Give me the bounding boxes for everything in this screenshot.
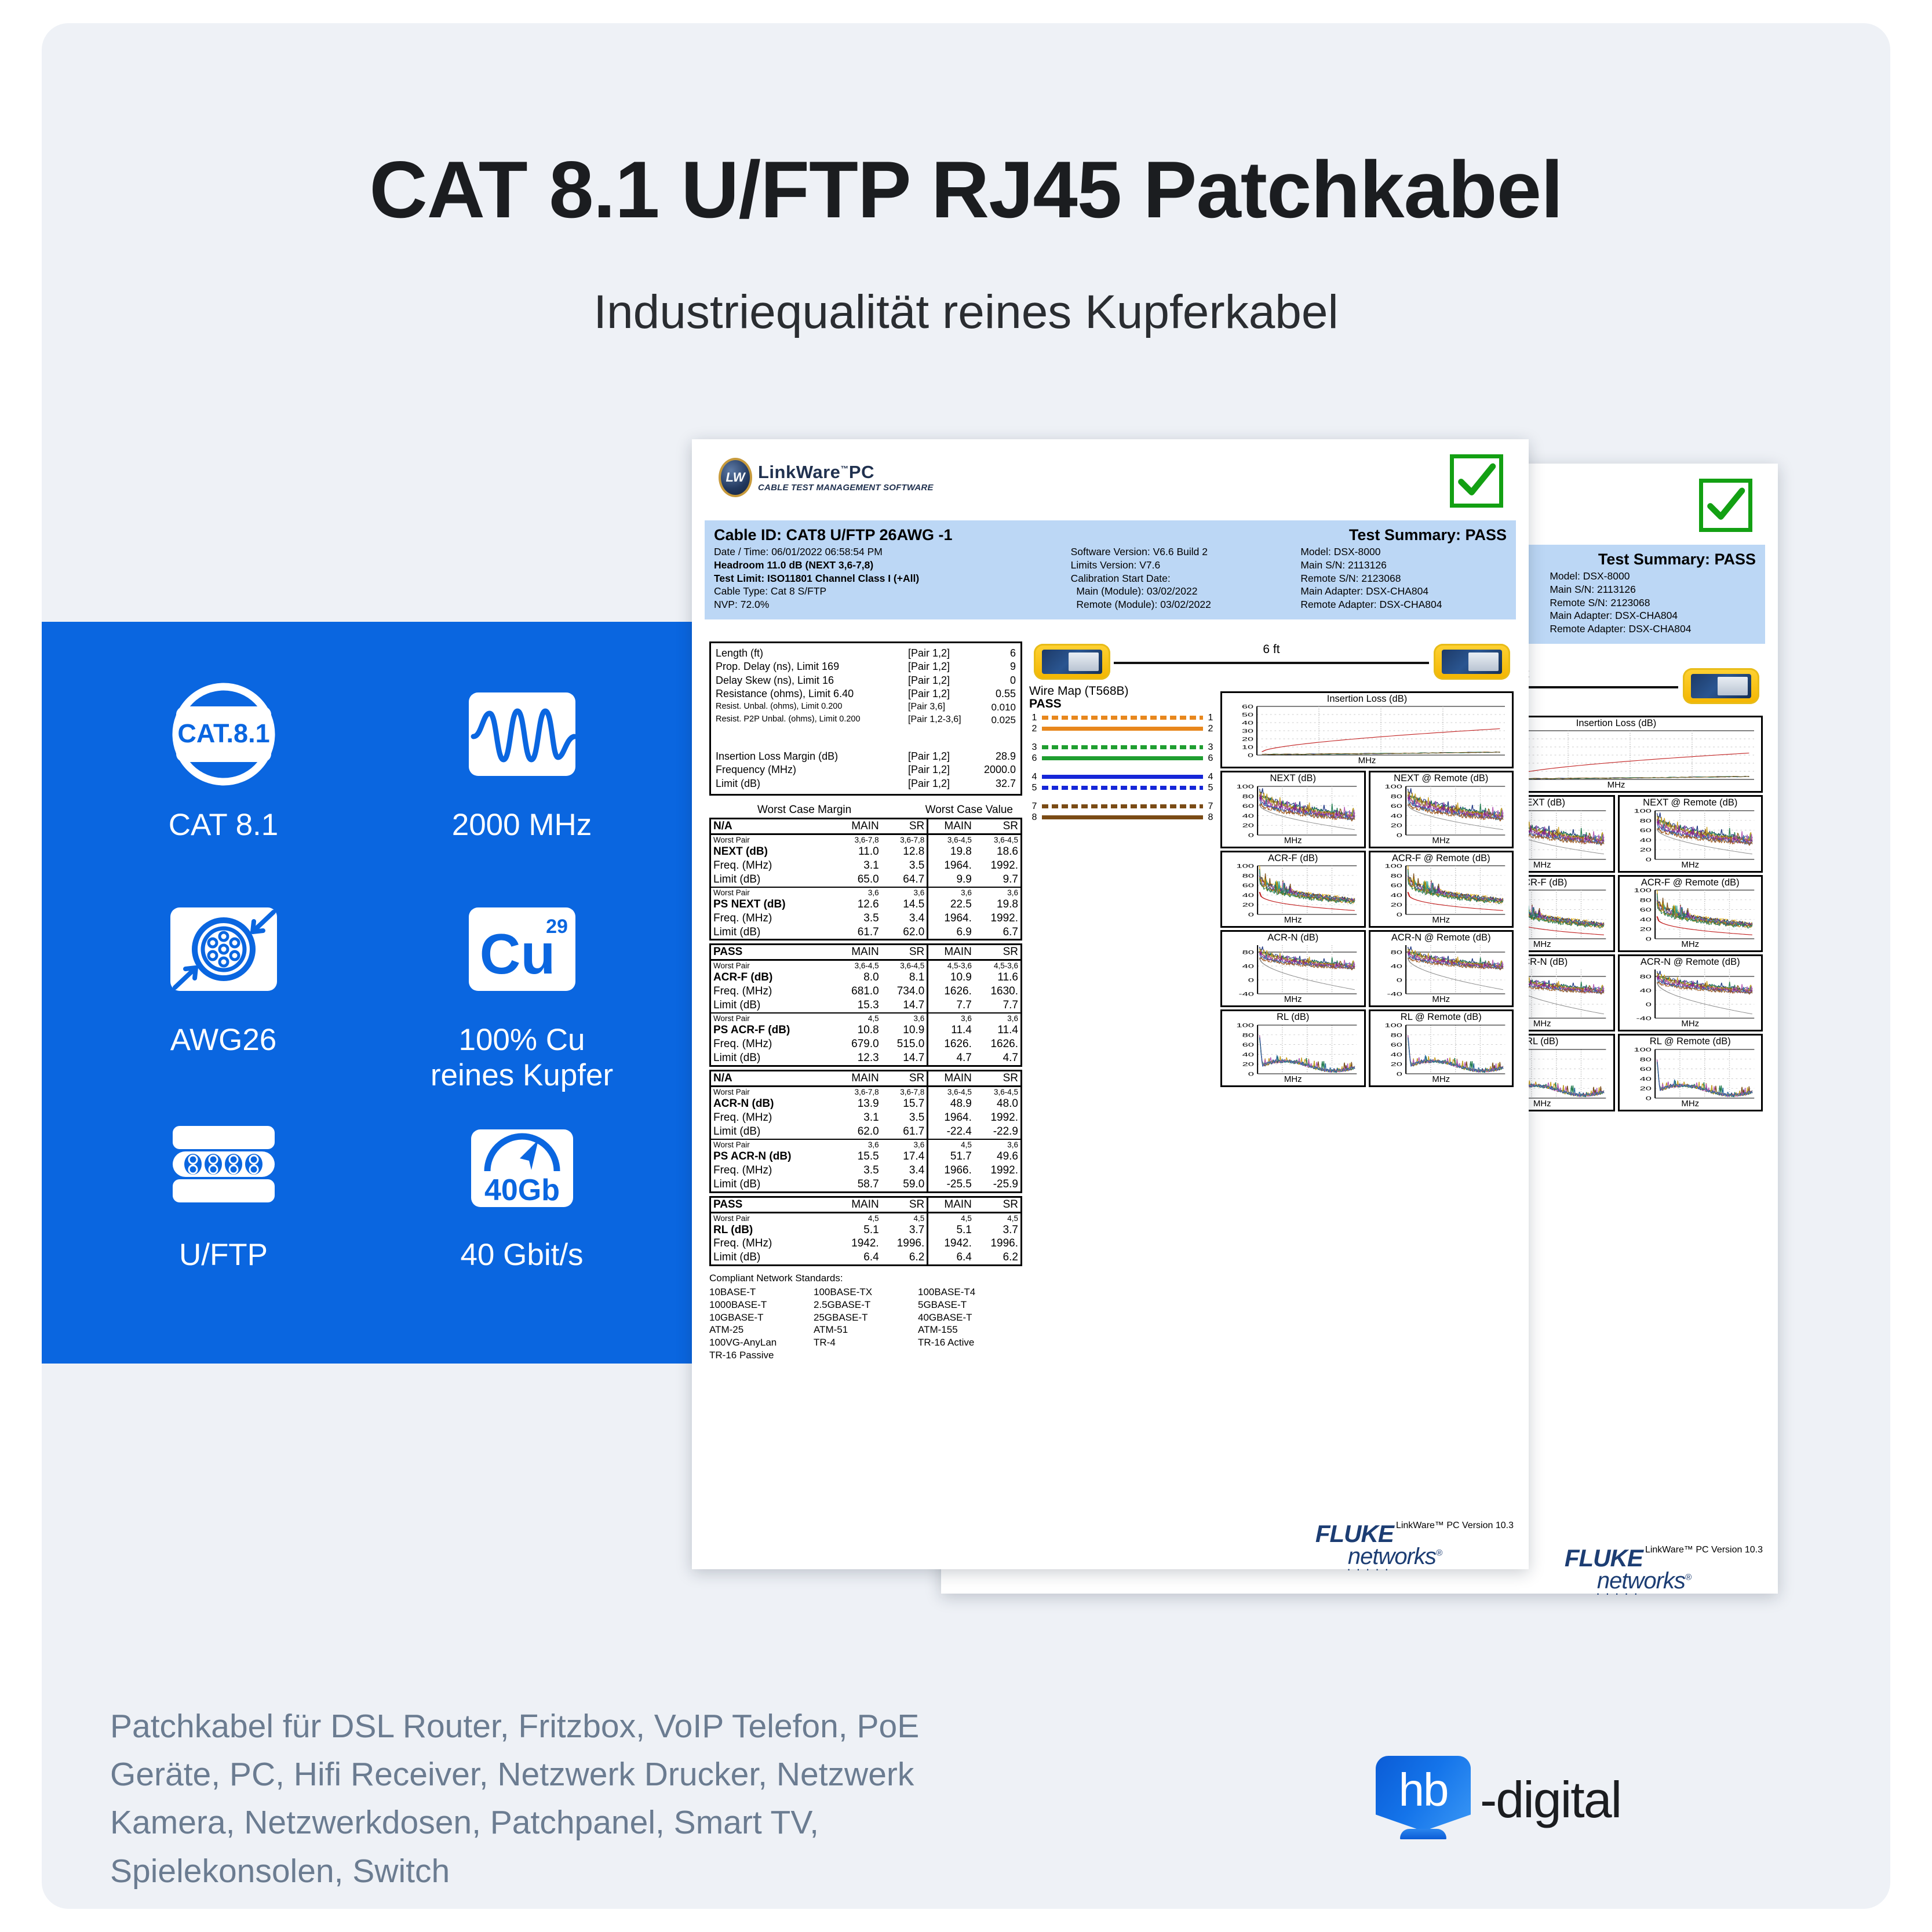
cell-main-margin: 15.5 bbox=[835, 1150, 881, 1164]
measurement-value: 0 bbox=[971, 674, 1016, 687]
data-row: NEXT (dB) 11.0 12.8 19.8 18.6 bbox=[711, 845, 1020, 859]
wiremap-right-pin: 1 bbox=[1205, 713, 1216, 723]
feature-label: 40 Gbit/s bbox=[460, 1237, 583, 1273]
chart-title: ACR-N @ Remote (dB) bbox=[1620, 956, 1762, 967]
standard-item: 10GBASE-T bbox=[709, 1311, 814, 1324]
svg-text:0: 0 bbox=[1248, 912, 1254, 917]
data-row: Worst Pair 3,6 3,6 3,6 3,6 bbox=[711, 888, 1020, 898]
wiremap-right-pin: 3 bbox=[1205, 742, 1216, 753]
svg-text:0: 0 bbox=[1248, 1071, 1254, 1076]
cell-sr-value: 11.4 bbox=[974, 1023, 1020, 1037]
svg-text:0: 0 bbox=[1645, 857, 1651, 862]
wiremap-left-pin: 3 bbox=[1029, 742, 1040, 753]
svg-text:0: 0 bbox=[1396, 978, 1402, 983]
cell-sr-value: 1626. bbox=[974, 1037, 1020, 1051]
data-row: ACR-F (dB) 8.0 8.1 10.9 11.6 bbox=[711, 971, 1020, 985]
svg-text:0: 0 bbox=[1396, 1071, 1402, 1076]
svg-text:CAT.8.1: CAT.8.1 bbox=[177, 719, 269, 748]
green-checkmark-icon bbox=[1450, 454, 1503, 508]
cell-sr-margin: 64.7 bbox=[881, 873, 928, 887]
info-line: Date / Time: 06/01/2022 06:58:54 PM bbox=[714, 545, 1071, 559]
row-label: Limit (dB) bbox=[711, 925, 835, 939]
cell-sr-margin: 8.1 bbox=[881, 971, 928, 985]
cell-sr-value: 9.7 bbox=[974, 873, 1020, 887]
cell-main-margin: 1942. bbox=[835, 1237, 881, 1251]
row-label: Worst Pair bbox=[711, 961, 835, 971]
svg-text:80: 80 bbox=[1390, 1032, 1402, 1038]
uftp-shield-icon bbox=[166, 1118, 282, 1211]
standard-item: TR-16 Active bbox=[918, 1336, 1022, 1349]
data-row: Freq. (MHz) 3.1 3.5 1964. 1992. bbox=[711, 859, 1020, 873]
svg-text:100: 100 bbox=[1634, 1047, 1652, 1053]
svg-text:40: 40 bbox=[1242, 892, 1254, 898]
block-status: PASS bbox=[711, 945, 835, 960]
standard-item: 100BASE-TX bbox=[814, 1286, 918, 1299]
cell-sr-margin: 12.8 bbox=[881, 845, 928, 859]
chart-title: ACR-F @ Remote (dB) bbox=[1620, 877, 1762, 888]
svg-text:80: 80 bbox=[1639, 898, 1651, 903]
chart-xaxis-label: MHz bbox=[1222, 836, 1364, 847]
cell-main-value: 4,5-3,6 bbox=[928, 961, 974, 971]
wiremap-right-pin: 4 bbox=[1205, 772, 1216, 782]
cell-main-value: 5.1 bbox=[928, 1223, 974, 1237]
row-label: RL (dB) bbox=[711, 1223, 835, 1237]
svg-text:-40: -40 bbox=[1387, 991, 1402, 996]
data-row: RL (dB) 5.1 3.7 5.1 3.7 bbox=[711, 1223, 1020, 1237]
data-row: Worst Pair 3,6-7,8 3,6-7,8 3,6-4,5 3,6-4… bbox=[711, 835, 1020, 845]
cell-main-margin: 12.6 bbox=[835, 898, 881, 912]
svg-text:60: 60 bbox=[1390, 803, 1402, 809]
svg-text:-40: -40 bbox=[1636, 1016, 1652, 1020]
svg-text:100: 100 bbox=[1634, 808, 1652, 814]
col-header: SR bbox=[974, 1071, 1020, 1086]
svg-text:2000: 2000 bbox=[1743, 782, 1761, 782]
chart-title: RL @ Remote (dB) bbox=[1370, 1011, 1512, 1022]
svg-text:80: 80 bbox=[1390, 873, 1402, 879]
fluke-networks-logo: FLUKE networks® ····· bbox=[1565, 1547, 1691, 1597]
cell-main-margin: 3,6-4,5 bbox=[835, 961, 881, 971]
cell-main-margin: 5.1 bbox=[835, 1223, 881, 1237]
cell-main-margin: 8.0 bbox=[835, 971, 881, 985]
data-row: Freq. (MHz) 679.0 515.0 1626. 1626. bbox=[711, 1037, 1020, 1051]
cell-main-value: 1626. bbox=[928, 985, 974, 998]
chart-title: ACR-F @ Remote (dB) bbox=[1370, 852, 1512, 863]
data-row: Freq. (MHz) 1942. 1996. 1942. 1996. bbox=[711, 1237, 1020, 1251]
measurement-label: Limit (dB) bbox=[716, 777, 908, 790]
cell-sr-value: 3,6 bbox=[974, 888, 1020, 898]
col-header: SR bbox=[881, 1198, 928, 1212]
row-label: Freq. (MHz) bbox=[711, 1164, 835, 1178]
chart-plot: 80400-400500100015002000 bbox=[1620, 967, 1762, 1020]
wiremap-pair-row: 4 4 bbox=[1029, 771, 1216, 782]
chart-xaxis-label: MHz bbox=[1370, 1075, 1512, 1085]
cell-main-margin: 3.1 bbox=[835, 1111, 881, 1125]
row-label: Limit (dB) bbox=[711, 998, 835, 1013]
svg-text:Cu: Cu bbox=[479, 922, 555, 986]
svg-text:0: 0 bbox=[1254, 757, 1260, 758]
svg-text:0: 0 bbox=[1645, 936, 1651, 941]
feature-item-copper-element: Cu 29 100% Cureines Kupfer bbox=[373, 878, 671, 1093]
row-label: Worst Pair bbox=[711, 1014, 835, 1023]
svg-text:-40: -40 bbox=[1239, 991, 1255, 996]
row-label: ACR-N (dB) bbox=[711, 1097, 835, 1111]
cell-sr-value: 3,6 bbox=[974, 1014, 1020, 1023]
data-row: Freq. (MHz) 681.0 734.0 1626. 1630. bbox=[711, 985, 1020, 998]
cell-sr-value: 7.7 bbox=[974, 998, 1020, 1013]
standard-item: 10BASE-T bbox=[709, 1286, 814, 1299]
svg-text:100: 100 bbox=[1384, 1023, 1402, 1029]
feature-label: AWG26 bbox=[170, 1022, 277, 1058]
wiremap-wire bbox=[1042, 756, 1203, 760]
feature-item-uftp-shield: U/FTP bbox=[74, 1093, 373, 1308]
info-line: Cable Type: Cat 8 S/FTP bbox=[714, 585, 1071, 598]
cell-main-value: 3,6-4,5 bbox=[928, 835, 974, 845]
chart-xaxis-label: MHz bbox=[1620, 1099, 1762, 1110]
col-header: MAIN bbox=[835, 945, 881, 960]
cell-sr-value: 4,5 bbox=[974, 1213, 1020, 1223]
svg-text:0: 0 bbox=[1248, 978, 1254, 983]
svg-text:40: 40 bbox=[1639, 988, 1651, 994]
uftp-shield-icon bbox=[166, 1106, 282, 1222]
col-header: SR bbox=[881, 945, 928, 960]
cell-main-value: 4,5 bbox=[928, 1140, 974, 1150]
col-header: SR bbox=[974, 945, 1020, 960]
cell-sr-value: 19.8 bbox=[974, 898, 1020, 912]
svg-text:20: 20 bbox=[1242, 1062, 1254, 1067]
svg-text:40: 40 bbox=[1242, 1052, 1254, 1058]
chart-rl-remote: RL @ Remote (dB) 10080604020005001000150… bbox=[1369, 1009, 1514, 1087]
svg-text:60: 60 bbox=[1242, 704, 1253, 710]
block-header-row: PASS MAIN SR MAIN SR bbox=[711, 945, 1020, 960]
cell-sr-margin: 3.7 bbox=[881, 1223, 928, 1237]
data-row: PS ACR-F (dB) 10.8 10.9 11.4 11.4 bbox=[711, 1023, 1020, 1037]
svg-text:40: 40 bbox=[1390, 964, 1402, 969]
cell-main-margin: 3.5 bbox=[835, 1164, 881, 1178]
cell-main-value: 4.7 bbox=[928, 1051, 974, 1065]
brand-name: -digital bbox=[1480, 1770, 1621, 1829]
info-line: NVP: 72.0% bbox=[714, 598, 1071, 611]
measurement-value: 6 bbox=[971, 647, 1016, 660]
row-label: PS ACR-F (dB) bbox=[711, 1023, 835, 1037]
data-row: ACR-N (dB) 13.9 15.7 48.9 48.0 bbox=[711, 1097, 1020, 1111]
cable-cross-section-icon bbox=[166, 891, 282, 1007]
cell-sr-margin: 3,6 bbox=[881, 1140, 928, 1150]
col-header: SR bbox=[881, 819, 928, 834]
wiremap-pair-row: 7 7 bbox=[1029, 801, 1216, 812]
data-row: Limit (dB) 6.4 6.2 6.4 6.2 bbox=[711, 1251, 1020, 1264]
svg-text:80: 80 bbox=[1242, 873, 1254, 879]
cell-main-value: 1966. bbox=[928, 1164, 974, 1178]
chart-title: RL (dB) bbox=[1222, 1011, 1364, 1022]
brand-logo: hb -digital bbox=[1376, 1756, 1621, 1844]
svg-text:20: 20 bbox=[1639, 927, 1651, 932]
linkware-tagline: CABLE TEST MANAGEMENT SOFTWARE bbox=[758, 483, 934, 493]
info-line: Main Adapter: DSX-CHA804 bbox=[1550, 609, 1756, 622]
block-status: PASS bbox=[711, 1198, 835, 1212]
feature-item-waveform: 2000 MHz bbox=[373, 664, 671, 878]
svg-text:80: 80 bbox=[1390, 950, 1402, 956]
compliant-standards: Compliant Network Standards: 10BASE-T100… bbox=[709, 1272, 1022, 1361]
cell-main-value: -25.5 bbox=[928, 1178, 974, 1191]
cell-sr-margin: 1996. bbox=[881, 1237, 928, 1251]
cell-main-value: 48.9 bbox=[928, 1097, 974, 1111]
info-line: Headroom 11.0 dB (NEXT 3,6-7,8) bbox=[714, 559, 1071, 572]
remote-tester-icon bbox=[1683, 668, 1759, 704]
cell-main-value: 7.7 bbox=[928, 998, 974, 1013]
measurement-label: Insertion Loss Margin (dB) bbox=[716, 750, 908, 763]
chart-title: ACR-F (dB) bbox=[1222, 852, 1364, 863]
wiremap-pair-row: 2 2 bbox=[1029, 723, 1216, 734]
measurement-row: Resist. P2P Unbal. (ohms), Limit 0.200 [… bbox=[716, 714, 1016, 727]
cell-sr-margin: 59.0 bbox=[881, 1178, 928, 1191]
measurement-row: Length (ft) [Pair 1,2] 6 bbox=[716, 647, 1016, 660]
row-label: Limit (dB) bbox=[711, 873, 835, 887]
chart-xaxis-label: MHz bbox=[1370, 995, 1512, 1005]
wiremap-left-pin: 7 bbox=[1029, 801, 1040, 812]
chart-plot: 1008060402000500100015002000 bbox=[1620, 808, 1762, 862]
svg-text:80: 80 bbox=[1639, 1056, 1651, 1062]
cell-sr-value: 3,6-4,5 bbox=[974, 1087, 1020, 1097]
measurement-pair: [Pair 1,2-3,6] bbox=[908, 714, 971, 727]
svg-text:100: 100 bbox=[1384, 863, 1402, 869]
cell-main-margin: 10.8 bbox=[835, 1023, 881, 1037]
data-row: Limit (dB) 58.7 59.0 -25.5 -25.9 bbox=[711, 1178, 1020, 1191]
svg-text:60: 60 bbox=[1242, 1042, 1254, 1048]
svg-text:1000: 1000 bbox=[1369, 757, 1393, 758]
data-row: PS ACR-N (dB) 15.5 17.4 51.7 49.6 bbox=[711, 1150, 1020, 1164]
svg-text:60: 60 bbox=[1390, 1042, 1402, 1048]
cell-sr-margin: 10.9 bbox=[881, 1023, 928, 1037]
fluke-wordmark: FLUKE bbox=[1315, 1522, 1442, 1545]
chart-rl: RL (dB) 1008060402000500100015002000 MHz bbox=[1220, 1009, 1366, 1087]
cell-sr-value: 11.6 bbox=[974, 971, 1020, 985]
svg-text:500: 500 bbox=[1310, 757, 1328, 758]
svg-text:40: 40 bbox=[1242, 813, 1254, 819]
measurement-pair: [Pair 1,2] bbox=[908, 647, 971, 660]
linkware-name: LinkWare™PC bbox=[758, 463, 934, 481]
cell-sr-value: -22.9 bbox=[974, 1125, 1020, 1139]
data-row: Worst Pair 4,5 3,6 3,6 3,6 bbox=[711, 1014, 1020, 1023]
row-label: Freq. (MHz) bbox=[711, 1237, 835, 1251]
chart-xaxis-label: MHz bbox=[1222, 756, 1512, 767]
wiremap-right-pin: 6 bbox=[1205, 753, 1216, 764]
svg-text:20: 20 bbox=[1390, 823, 1402, 829]
info-column-3: Model: DSX-8000Main S/N: 2113126Remote S… bbox=[1300, 545, 1507, 611]
cell-main-margin: 681.0 bbox=[835, 985, 881, 998]
cell-sr-margin: 3.4 bbox=[881, 1164, 928, 1178]
cell-sr-margin: 3.4 bbox=[881, 912, 928, 925]
standard-item bbox=[814, 1349, 918, 1362]
svg-text:40: 40 bbox=[1639, 1076, 1651, 1082]
measurement-value: 32.7 bbox=[971, 777, 1016, 790]
cell-sr-value: 1992. bbox=[974, 1164, 1020, 1178]
green-checkmark-icon bbox=[1699, 479, 1752, 532]
chart-xaxis-label: MHz bbox=[1222, 995, 1364, 1005]
info-line: Calibration Start Date: bbox=[1071, 572, 1301, 585]
svg-text:60: 60 bbox=[1639, 828, 1651, 833]
block-header-row: N/A MAIN SR MAIN SR bbox=[711, 819, 1020, 834]
cell-main-margin: 3,6-7,8 bbox=[835, 1087, 881, 1097]
speed-gauge-icon: 40Gb bbox=[464, 1113, 580, 1215]
chart-xaxis-label: MHz bbox=[1222, 916, 1364, 926]
row-label: Worst Pair bbox=[711, 1087, 835, 1097]
chart-plot: 1008060402000500100015002000 bbox=[1370, 1023, 1512, 1076]
standard-item: 1000BASE-T bbox=[709, 1299, 814, 1311]
measurement-row: Prop. Delay (ns), Limit 169 [Pair 1,2] 9 bbox=[716, 660, 1016, 673]
svg-text:20: 20 bbox=[1390, 1062, 1402, 1067]
measurement-label: Resist. P2P Unbal. (ohms), Limit 0.200 bbox=[716, 714, 908, 727]
copper-element-icon: Cu 29 bbox=[464, 903, 580, 996]
cell-main-value: 3,6 bbox=[928, 888, 974, 898]
col-header: MAIN bbox=[835, 819, 881, 834]
svg-text:20: 20 bbox=[1242, 737, 1253, 742]
measurement-label: Prop. Delay (ns), Limit 169 bbox=[716, 660, 908, 673]
info-line: Remote S/N: 2123068 bbox=[1550, 596, 1756, 610]
measurement-label: Frequency (MHz) bbox=[716, 763, 908, 777]
info-line: Test Limit: ISO11801 Channel Class I (+A… bbox=[714, 572, 1071, 585]
chart-xaxis-label: MHz bbox=[1370, 836, 1512, 847]
cell-main-margin: 3.1 bbox=[835, 859, 881, 873]
standards-title: Compliant Network Standards: bbox=[709, 1272, 1022, 1285]
svg-text:20: 20 bbox=[1390, 902, 1402, 908]
chart-title: ACR-N @ Remote (dB) bbox=[1370, 932, 1512, 943]
standard-item: ATM-155 bbox=[918, 1324, 1022, 1336]
svg-text:100: 100 bbox=[1236, 1023, 1254, 1029]
block-status: N/A bbox=[711, 1071, 835, 1086]
cat8-seal-icon: CAT.8.1 bbox=[166, 676, 282, 792]
link-diagram: 6 ft bbox=[1029, 641, 1514, 684]
info-column-3: Model: DSX-8000Main S/N: 2113126Remote S… bbox=[1550, 570, 1756, 636]
cell-main-value: 9.9 bbox=[928, 873, 974, 887]
svg-text:40: 40 bbox=[1242, 964, 1254, 969]
chart-plot: 60504030201000500100015002000 bbox=[1222, 704, 1512, 757]
cell-sr-margin: 14.5 bbox=[881, 898, 928, 912]
cell-main-margin: 61.7 bbox=[835, 925, 881, 939]
cell-main-value: 10.9 bbox=[928, 971, 974, 985]
svg-text:80: 80 bbox=[1242, 1032, 1254, 1038]
measurement-row: Insertion Loss Margin (dB) [Pair 1,2] 28… bbox=[716, 750, 1016, 763]
wiremap-right-pin: 8 bbox=[1205, 812, 1216, 823]
standard-item: TR-16 Passive bbox=[709, 1349, 814, 1362]
data-row: Freq. (MHz) 3.5 3.4 1966. 1992. bbox=[711, 1164, 1020, 1178]
main-tester-icon bbox=[1034, 644, 1110, 680]
chart-acrf: ACR-F (dB) 1008060402000500100015002000 … bbox=[1220, 851, 1366, 928]
cell-sr-value: 3.7 bbox=[974, 1223, 1020, 1237]
chart-plot: 1008060402000500100015002000 bbox=[1370, 863, 1512, 917]
measurement-value: 0.55 bbox=[971, 687, 1016, 701]
chart-xaxis-label: MHz bbox=[1620, 861, 1762, 871]
worst-case-value-header: Worst Case Value bbox=[859, 804, 1022, 816]
measurement-value: 28.9 bbox=[971, 750, 1016, 763]
cell-sr-margin: 515.0 bbox=[881, 1037, 928, 1051]
measurement-pair: [Pair 3,6] bbox=[908, 701, 971, 714]
cell-sr-value: 1992. bbox=[974, 1111, 1020, 1125]
svg-text:60: 60 bbox=[1390, 883, 1402, 889]
cell-main-margin: 15.3 bbox=[835, 998, 881, 1013]
standard-item bbox=[918, 1349, 1022, 1362]
remote-tester-icon bbox=[1434, 644, 1510, 680]
data-row: Worst Pair 3,6-7,8 3,6-7,8 3,6-4,5 3,6-4… bbox=[711, 1087, 1020, 1097]
col-header: SR bbox=[974, 819, 1020, 834]
info-line: Limits Version: V7.6 bbox=[1071, 559, 1301, 572]
cell-main-value: 1964. bbox=[928, 912, 974, 925]
svg-text:40: 40 bbox=[1242, 720, 1253, 726]
cell-sr-value: 4,5-3,6 bbox=[974, 961, 1020, 971]
data-row: Worst Pair 3,6 3,6 4,5 3,6 bbox=[711, 1140, 1020, 1150]
lw-badge-icon: LW bbox=[719, 458, 752, 497]
measurement-label: Length (ft) bbox=[716, 647, 908, 660]
cell-main-value: 6.4 bbox=[928, 1251, 974, 1264]
feature-label: 2000 MHz bbox=[452, 807, 592, 843]
col-header: SR bbox=[974, 1198, 1020, 1212]
info-line: Model: DSX-8000 bbox=[1550, 570, 1756, 583]
svg-text:0: 0 bbox=[1645, 1002, 1651, 1008]
cell-main-value: 3,6 bbox=[928, 1014, 974, 1023]
measurement-value: 2000.0 bbox=[971, 763, 1016, 777]
page-title: CAT 8.1 U/FTP RJ45 Patchkabel bbox=[42, 144, 1890, 236]
chart-xaxis-label: MHz bbox=[1620, 940, 1762, 950]
cell-sr-value: 3,6 bbox=[974, 1140, 1020, 1150]
measurement-row: Resist. Unbal. (ohms), Limit 0.200 [Pair… bbox=[716, 701, 1016, 714]
info-line: Main S/N: 2113126 bbox=[1300, 559, 1507, 572]
measurement-row: Resistance (ohms), Limit 6.40 [Pair 1,2]… bbox=[716, 687, 1016, 701]
measurement-label: Resistance (ohms), Limit 6.40 bbox=[716, 687, 908, 701]
chart-plot: 1008060402000500100015002000 bbox=[1620, 1047, 1762, 1100]
standard-item: ATM-51 bbox=[814, 1324, 918, 1336]
chart-acrn-remote: ACR-N @ Remote (dB) 80400-40050010001500… bbox=[1618, 954, 1763, 1031]
hb-shield-icon: hb bbox=[1376, 1756, 1471, 1844]
wiremap-left-pin: 6 bbox=[1029, 753, 1040, 764]
standard-item: 5GBASE-T bbox=[918, 1299, 1022, 1311]
svg-text:60: 60 bbox=[1639, 1066, 1651, 1072]
chart-title: RL @ Remote (dB) bbox=[1620, 1036, 1762, 1047]
svg-text:40Gb: 40Gb bbox=[484, 1173, 559, 1207]
measurement-pair: [Pair 1,2] bbox=[908, 750, 971, 763]
measurement-pair: [Pair 1,2] bbox=[908, 763, 971, 777]
cell-sr-margin: 62.0 bbox=[881, 925, 928, 939]
wiremap-wire bbox=[1042, 716, 1203, 720]
product-description: Patchkabel für DSL Router, Fritzbox, VoI… bbox=[110, 1703, 1008, 1895]
feature-label: U/FTP bbox=[179, 1237, 268, 1273]
feature-item-cat8-seal: CAT.8.1 CAT 8.1 bbox=[74, 664, 373, 878]
standard-item: 100VG-AnyLan bbox=[709, 1336, 814, 1349]
cell-main-margin: 4,5 bbox=[835, 1213, 881, 1223]
data-row: Limit (dB) 61.7 62.0 6.9 6.7 bbox=[711, 925, 1020, 939]
cell-main-margin: 3,6 bbox=[835, 1140, 881, 1150]
row-label: Worst Pair bbox=[711, 1213, 835, 1223]
cell-sr-value: 49.6 bbox=[974, 1150, 1020, 1164]
report-right-column: 6 ft Wire Map (T568B) PASS 1 1 2 2 3 3 6… bbox=[1029, 641, 1514, 823]
col-header: MAIN bbox=[928, 1198, 974, 1212]
svg-text:50: 50 bbox=[1242, 712, 1253, 718]
standard-item: TR-4 bbox=[814, 1336, 918, 1349]
svg-text:1500: 1500 bbox=[1431, 757, 1455, 758]
info-line: Remote Adapter: DSX-CHA804 bbox=[1550, 622, 1756, 636]
svg-text:0: 0 bbox=[1645, 1096, 1651, 1100]
row-label: Freq. (MHz) bbox=[711, 1111, 835, 1125]
measurement-pair: [Pair 1,2] bbox=[908, 777, 971, 790]
cell-sr-value: 1992. bbox=[974, 912, 1020, 925]
wiremap-left-pin: 1 bbox=[1029, 713, 1040, 723]
info-column-2: Software Version: V6.6 Build 2Limits Ver… bbox=[1071, 545, 1301, 611]
info-line: Remote Adapter: DSX-CHA804 bbox=[1300, 598, 1507, 611]
info-line: Model: DSX-8000 bbox=[1300, 545, 1507, 559]
info-line: Remote (Module): 03/02/2022 bbox=[1071, 598, 1301, 611]
cell-sr-value: 4.7 bbox=[974, 1051, 1020, 1065]
measurement-pair: [Pair 1,2] bbox=[908, 660, 971, 673]
cell-sr-value: 1992. bbox=[974, 859, 1020, 873]
row-label: Limit (dB) bbox=[711, 1178, 835, 1191]
